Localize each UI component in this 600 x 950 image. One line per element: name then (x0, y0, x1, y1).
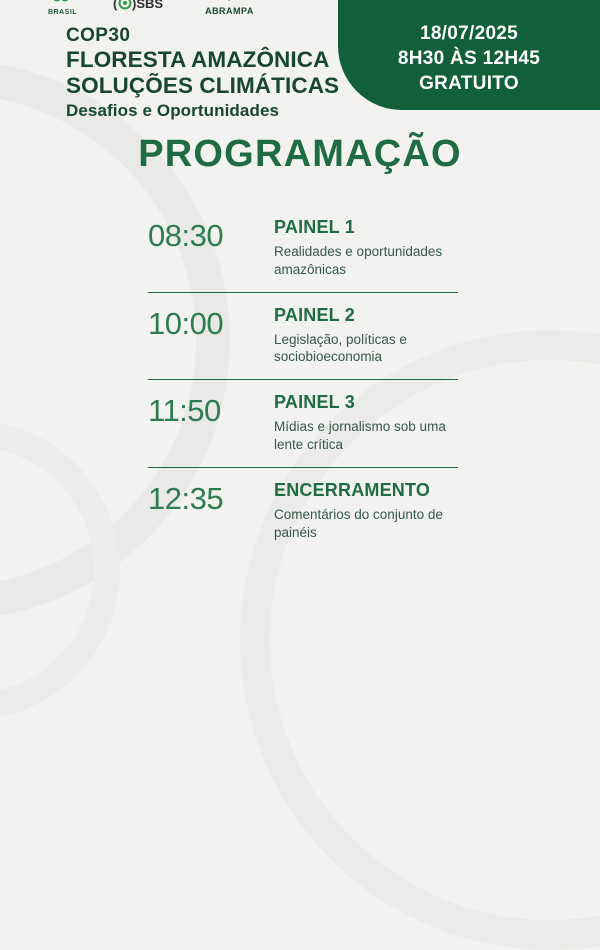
schedule-row: 12:35 ENCERRAMENTO Comentários do conjun… (148, 467, 458, 555)
schedule-time: 10:00 (148, 306, 260, 339)
event-time-range: 8H30 ÀS 12H45 (398, 46, 540, 71)
schedule-time: 11:50 (148, 393, 260, 426)
svg-text:)SBS: )SBS (132, 0, 163, 11)
schedule-title: PAINEL 3 (274, 393, 458, 413)
title-line-2: SOLUÇÕES CLIMÁTICAS (66, 73, 396, 100)
schedule-description: Legislação, políticas e sociobioeconomia (274, 331, 458, 367)
title-subtitle: Desafios e Oportunidades (66, 101, 396, 121)
schedule-description: Comentários do conjunto de painéis (274, 506, 458, 542)
schedule-title: PAINEL 2 (274, 306, 458, 326)
schedule-time: 08:30 (148, 218, 260, 251)
abrampa-logo-label: ABRAMPA (205, 6, 254, 16)
schedule-body: ENCERRAMENTO Comentários do conjunto de … (274, 481, 458, 542)
schedule-title: ENCERRAMENTO (274, 481, 458, 501)
schedule-description: Mídias e jornalismo sob uma lente crític… (274, 418, 458, 454)
abrampa-logo: ABRAMPA (205, 0, 254, 16)
cop-label: COP30 (66, 26, 396, 47)
schedule-description: Realidades e oportunidades amazônicas (274, 243, 458, 279)
event-date: 18/07/2025 (420, 21, 518, 46)
event-title-block: COP30 FLORESTA AMAZÔNICA SOLUÇÕES CLIMÁT… (66, 26, 396, 121)
schedule-body: PAINEL 2 Legislação, políticas e sociobi… (274, 306, 458, 367)
schedule-body: PAINEL 3 Mídias e jornalismo sob uma len… (274, 393, 458, 454)
schedule-time: 12:35 (148, 481, 260, 514)
schedule-row: 08:30 PAINEL 1 Realidades e oportunidade… (148, 205, 458, 292)
schedule-title: PAINEL 1 (274, 218, 458, 238)
svg-text:(: ( (113, 0, 118, 11)
sbs-logo: ( )SBS (113, 0, 169, 16)
page-title: PROGRAMAÇÃO (0, 133, 600, 176)
title-line-1: FLORESTA AMAZÔNICA (66, 47, 396, 74)
schedule-row: 11:50 PAINEL 3 Mídias e jornalismo sob u… (148, 379, 458, 467)
schedule-list: 08:30 PAINEL 1 Realidades e oportunidade… (148, 205, 458, 555)
schedule-row: 10:00 PAINEL 2 Legislação, políticas e s… (148, 292, 458, 380)
schedule-body: PAINEL 1 Realidades e oportunidades amaz… (274, 218, 458, 279)
clover-icon (50, 0, 76, 8)
sbs-mark-icon: ( )SBS (113, 0, 169, 16)
brasil-logo: BRASIL (48, 0, 77, 16)
logo-strip: BRASIL ( )SBS ABRAMPA (48, 0, 254, 16)
brasil-logo-label: BRASIL (48, 9, 77, 16)
event-price: GRATUITO (419, 71, 519, 96)
